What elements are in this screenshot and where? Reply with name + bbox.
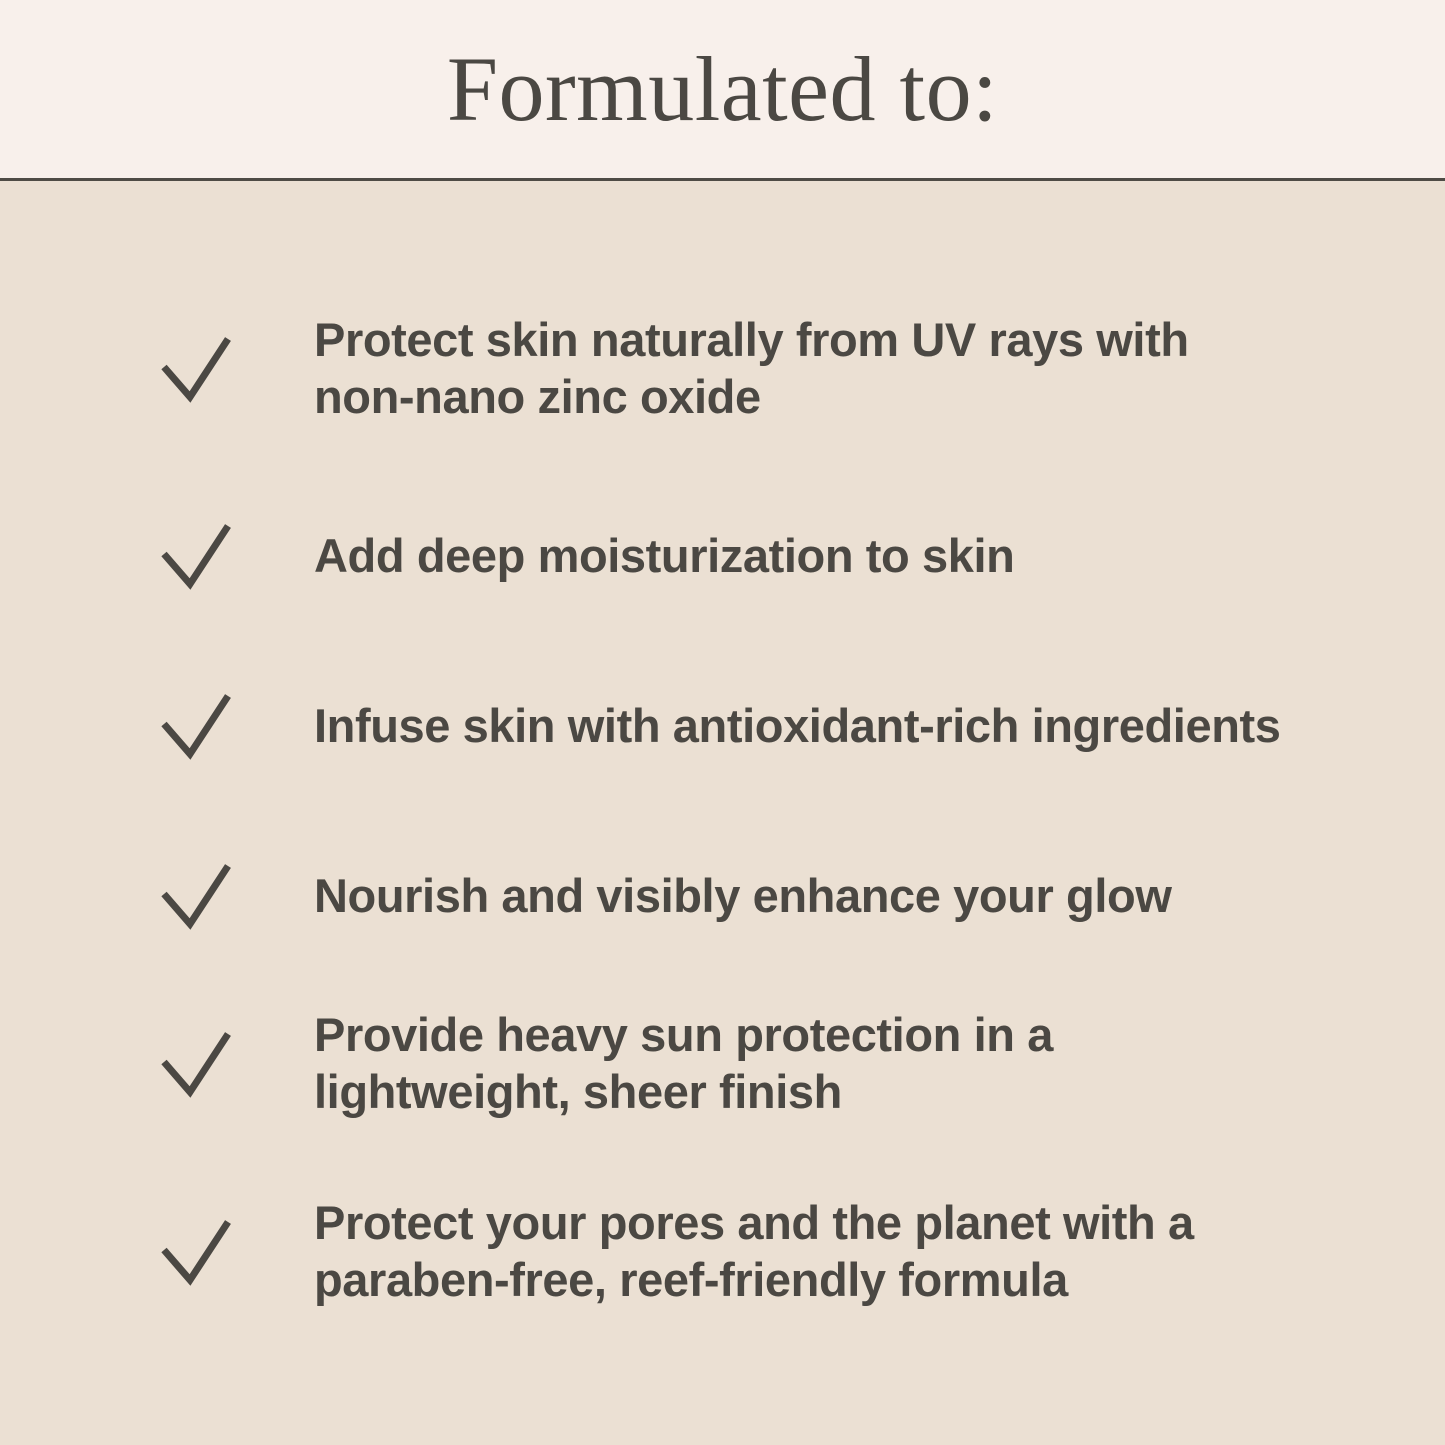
benefits-section: Protect skin naturally from UV rays with… xyxy=(0,181,1445,1445)
page-title: Formulated to: xyxy=(447,43,998,135)
list-item: Provide heavy sun protection in a lightw… xyxy=(160,1007,1340,1121)
checkmark-icon xyxy=(160,686,240,766)
list-item: Protect skin naturally from UV rays with… xyxy=(160,312,1340,426)
checkmark-icon xyxy=(160,1212,240,1292)
list-item: Protect your pores and the planet with a… xyxy=(160,1195,1340,1309)
checkmark-icon xyxy=(160,856,240,936)
checkmark-icon xyxy=(160,516,240,596)
benefit-text: Protect your pores and the planet with a… xyxy=(314,1195,1340,1309)
benefit-text: Nourish and visibly enhance your glow xyxy=(314,868,1340,925)
list-item: Infuse skin with antioxidant-rich ingred… xyxy=(160,686,1340,766)
checkmark-icon xyxy=(160,1024,240,1104)
benefit-text: Provide heavy sun protection in a lightw… xyxy=(314,1007,1340,1121)
list-item: Nourish and visibly enhance your glow xyxy=(160,856,1340,936)
checkmark-icon xyxy=(160,329,240,409)
benefit-text: Protect skin naturally from UV rays with… xyxy=(314,312,1340,426)
benefit-text: Infuse skin with antioxidant-rich ingred… xyxy=(314,698,1340,755)
formulated-to-panel: Formulated to: Protect skin naturally fr… xyxy=(0,0,1445,1445)
header-bar: Formulated to: xyxy=(0,0,1445,181)
benefit-text: Add deep moisturization to skin xyxy=(314,528,1340,585)
list-item: Add deep moisturization to skin xyxy=(160,516,1340,596)
